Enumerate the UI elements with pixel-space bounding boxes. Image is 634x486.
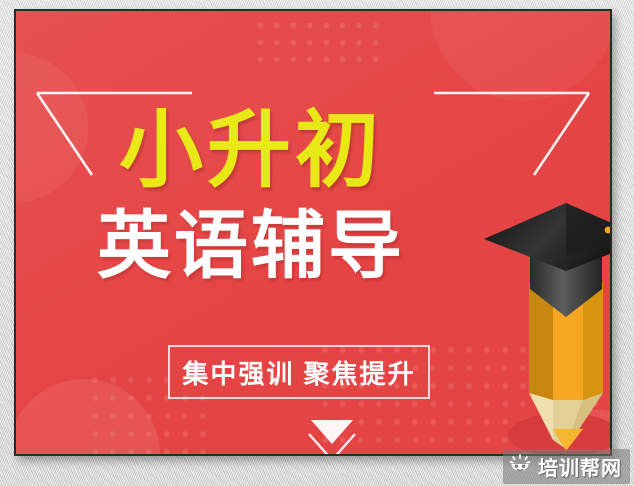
tagline-box: 集中强训 聚焦提升: [168, 345, 430, 399]
corner-bracket-left-icon: [34, 89, 194, 181]
soft-circle-accent-top-left: [16, 53, 88, 203]
soft-circle-accent-bottom-left: [16, 379, 160, 454]
soft-circle-accent-top-right: [430, 11, 610, 101]
promo-banner-card: 小升初 英语辅导 集中强训 聚焦提升: [14, 9, 612, 456]
headline-secondary: 英语辅导: [16, 209, 486, 283]
watermark: 培训帮网: [503, 449, 630, 484]
headline-primary: 小升初: [16, 109, 486, 191]
dot-grid-pattern-top: [252, 17, 386, 73]
headline-block: 小升初 英语辅导: [16, 109, 486, 283]
pencil-with-graduation-cap-illustration: [482, 197, 610, 454]
watermark-text: 培训帮网: [538, 452, 622, 481]
smiley-sun-icon: [509, 454, 531, 479]
corner-bracket-right-icon: [432, 89, 592, 181]
tagline-text: 集中强训 聚焦提升: [182, 354, 415, 391]
banner-image-canvas: 小升初 英语辅导 集中强训 聚焦提升: [0, 0, 634, 486]
scroll-down-arrow-icon: [299, 412, 365, 454]
